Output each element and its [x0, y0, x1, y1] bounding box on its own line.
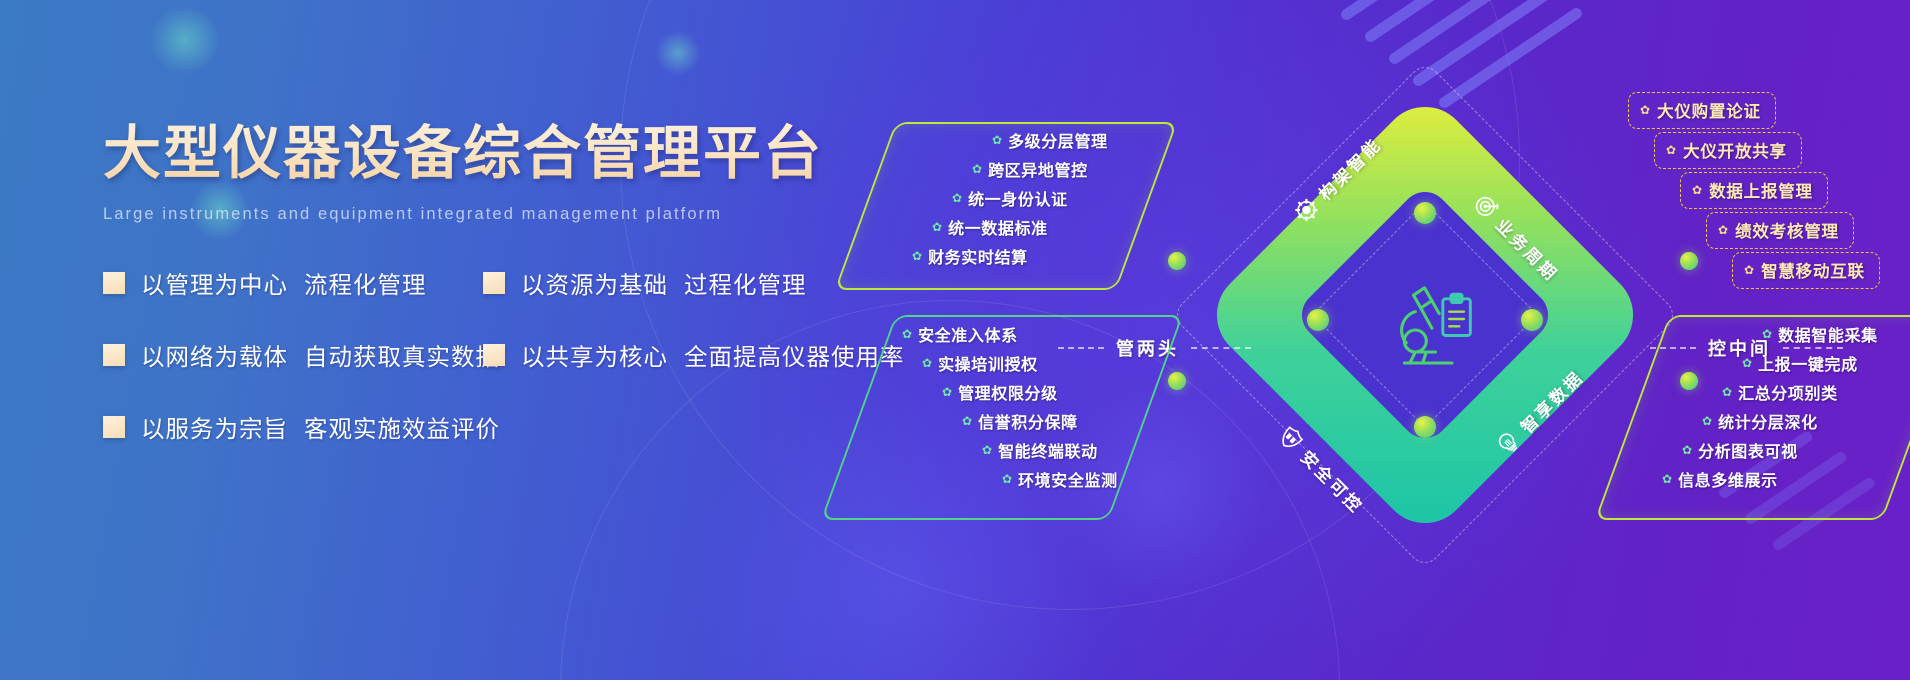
diagram-node	[1168, 252, 1186, 270]
list-item: 以资源为基础过程化管理	[483, 266, 807, 300]
list-item: 以网络为载体自动获取真实数据	[103, 338, 483, 372]
item-label: 统计分层深化	[1718, 409, 1818, 433]
glow-dot-1	[150, 5, 220, 75]
item-label: 财务实时结算	[928, 244, 1028, 268]
inner-node-right	[1521, 309, 1543, 331]
star-icon: ✿	[922, 357, 932, 369]
microscope-clipboard-icon	[1375, 275, 1485, 385]
star-icon: ✿	[1744, 263, 1754, 277]
star-icon: ✿	[1666, 143, 1676, 157]
item-label: 信誉积分保障	[978, 409, 1078, 433]
badge-label: 绩效考核管理	[1735, 218, 1839, 242]
list-item[interactable]: ✿ 信誉积分保障	[962, 409, 1164, 433]
item-label: 上报一键完成	[1758, 351, 1858, 375]
star-icon: ✿	[1692, 183, 1702, 197]
item-label: 跨区异地管控	[988, 157, 1088, 181]
item-label: 环境安全监测	[1018, 467, 1118, 491]
list-item[interactable]: ✿ 多级分层管理	[992, 128, 1170, 152]
item-label: 实操培训授权	[938, 351, 1038, 375]
item-label: 信息多维展示	[1678, 467, 1778, 491]
list-item[interactable]: ✿ 管理权限分级	[942, 380, 1164, 404]
feature-row: 以服务为宗旨客观实施效益评价	[103, 410, 923, 444]
badge-label: 智慧移动互联	[1761, 258, 1865, 282]
star-icon: ✿	[1762, 328, 1772, 340]
star-icon: ✿	[1742, 357, 1752, 369]
item-label: 安全准入体系	[918, 322, 1018, 346]
star-icon: ✿	[1640, 103, 1650, 117]
dashed-connector	[1191, 347, 1251, 349]
list-item[interactable]: ✿ 分析图表可视	[1682, 438, 1910, 462]
star-icon: ✿	[982, 444, 992, 456]
list-item[interactable]: ✿ 智能终端联动	[982, 438, 1164, 462]
badge-item[interactable]: ✿ 大仪开放共享	[1654, 132, 1802, 169]
item-label: 汇总分项别类	[1738, 380, 1838, 404]
badge-item[interactable]: ✿ 智慧移动互联	[1732, 252, 1880, 289]
list-item[interactable]: ✿ 实操培训授权	[922, 351, 1164, 375]
star-icon: ✿	[992, 134, 1002, 146]
inner-node-top	[1414, 202, 1436, 224]
star-icon: ✿	[1718, 223, 1728, 237]
star-icon: ✿	[932, 221, 942, 233]
page-subtitle: Large instruments and equipment integrat…	[103, 205, 923, 224]
list-item: 以共享为核心全面提高仪器使用率	[483, 338, 905, 372]
item-label: 统一身份认证	[968, 186, 1068, 210]
item-label: 管理权限分级	[958, 380, 1058, 404]
bullet-square-icon	[483, 344, 505, 366]
hero-text-panel: 大型仪器设备综合管理平台 Large instruments and equip…	[103, 120, 923, 482]
item-label: 数据智能采集	[1778, 322, 1878, 346]
list-item: 以服务为宗旨客观实施效益评价	[103, 410, 483, 444]
page-title: 大型仪器设备综合管理平台	[103, 120, 923, 187]
item-label: 智能终端联动	[998, 438, 1098, 462]
star-icon: ✿	[902, 328, 912, 340]
item-label: 分析图表可视	[1698, 438, 1798, 462]
badge-label: 大仪购置论证	[1657, 98, 1761, 122]
list-item[interactable]: ✿ 信息多维展示	[1662, 467, 1910, 491]
list-item[interactable]: ✿ 统计分层深化	[1702, 409, 1910, 433]
list-item: 以管理为中心流程化管理	[103, 266, 483, 300]
badge-label: 数据上报管理	[1709, 178, 1813, 202]
star-icon: ✿	[1682, 444, 1692, 456]
banner-stage: 大型仪器设备综合管理平台 Large instruments and equip…	[0, 0, 1910, 680]
feature-text: 以管理为中心流程化管理	[141, 266, 427, 300]
list-item[interactable]: ✿ 数据智能采集	[1762, 322, 1910, 346]
feature-list: 以管理为中心流程化管理 以资源为基础过程化管理 以网络为载体自动获取真实数据 以…	[103, 266, 923, 444]
glow-dot-3	[655, 30, 701, 76]
list-item[interactable]: ✿ 环境安全监测	[1002, 467, 1164, 491]
panel-bottom-right-list: ✿ 数据智能采集 ✿ 上报一键完成 ✿ 汇总分项别类 ✿ 统计分层深化	[1660, 322, 1910, 496]
inner-node-left	[1307, 309, 1329, 331]
star-icon: ✿	[1722, 386, 1732, 398]
panel-top-left-list: ✿ 多级分层管理 ✿ 跨区异地管控 ✿ 统一身份认证 ✿ 统一数据标准	[900, 128, 1170, 273]
star-icon: ✿	[952, 192, 962, 204]
bullet-square-icon	[103, 272, 125, 294]
star-icon: ✿	[942, 386, 952, 398]
star-icon: ✿	[972, 163, 982, 175]
star-icon: ✿	[1662, 473, 1672, 485]
feature-row: 以管理为中心流程化管理 以资源为基础过程化管理	[103, 266, 923, 300]
star-icon: ✿	[912, 250, 922, 262]
list-item[interactable]: ✿ 财务实时结算	[912, 244, 1170, 268]
list-item[interactable]: ✿ 统一身份认证	[952, 186, 1170, 210]
badge-item[interactable]: ✿ 数据上报管理	[1680, 172, 1828, 209]
bullet-square-icon	[483, 272, 505, 294]
bullet-square-icon	[103, 344, 125, 366]
star-icon: ✿	[1002, 473, 1012, 485]
list-item[interactable]: ✿ 汇总分项别类	[1722, 380, 1910, 404]
list-item[interactable]: ✿ 统一数据标准	[932, 215, 1170, 239]
architecture-diagram: 构架智能 业务周期	[1020, 60, 1910, 620]
star-icon: ✿	[1702, 415, 1712, 427]
list-item[interactable]: ✿ 安全准入体系	[902, 322, 1164, 346]
list-item[interactable]: ✿ 跨区异地管控	[972, 157, 1170, 181]
bullet-square-icon	[103, 416, 125, 438]
inner-node-bottom	[1414, 416, 1436, 438]
item-label: 统一数据标准	[948, 215, 1048, 239]
feature-text: 以资源为基础过程化管理	[521, 266, 807, 300]
item-label: 多级分层管理	[1008, 128, 1108, 152]
diagram-node	[1168, 372, 1186, 390]
feature-text: 以网络为载体自动获取真实数据	[141, 338, 500, 372]
list-item[interactable]: ✿ 上报一键完成	[1742, 351, 1910, 375]
diagram-node	[1680, 252, 1698, 270]
feature-text: 以服务为宗旨客观实施效益评价	[141, 410, 500, 444]
badge-label: 大仪开放共享	[1683, 138, 1787, 162]
badge-item[interactable]: ✿ 绩效考核管理	[1706, 212, 1854, 249]
feature-text: 以共享为核心全面提高仪器使用率	[521, 338, 905, 372]
star-icon: ✿	[962, 415, 972, 427]
feature-row: 以网络为载体自动获取真实数据 以共享为核心全面提高仪器使用率	[103, 338, 923, 372]
panel-bottom-left-list: ✿ 安全准入体系 ✿ 实操培训授权 ✿ 管理权限分级 ✿ 信誉积分保障	[884, 322, 1164, 496]
badge-item[interactable]: ✿ 大仪购置论证	[1628, 92, 1776, 129]
